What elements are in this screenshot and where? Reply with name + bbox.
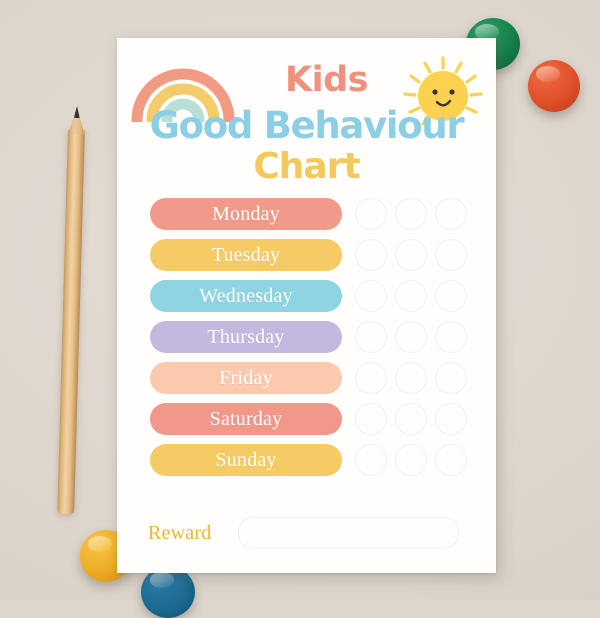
sticker-circle[interactable]	[395, 444, 427, 476]
sticker-circle[interactable]	[435, 198, 467, 230]
sticker-circle[interactable]	[435, 239, 467, 271]
day-pill-monday[interactable]: Monday	[150, 198, 342, 230]
blue-magnet[interactable]	[141, 566, 195, 618]
chart-rows: Monday Tuesday Wednesday	[117, 198, 496, 485]
day-pill-saturday[interactable]: Saturday	[150, 403, 342, 435]
sticker-circle[interactable]	[435, 362, 467, 394]
card-header: Kids Good Behaviour Chart	[117, 38, 496, 188]
day-pill-sunday[interactable]: Sunday	[150, 444, 342, 476]
orange-magnet[interactable]	[528, 60, 580, 112]
checkbox-group-thursday	[355, 321, 467, 353]
checkbox-group-sunday	[355, 444, 467, 476]
table-row: Monday	[117, 198, 496, 230]
table-row: Friday	[117, 362, 496, 394]
title-chart: Chart	[117, 146, 496, 187]
table-row: Saturday	[117, 403, 496, 435]
sticker-circle[interactable]	[355, 280, 387, 312]
title-good-behaviour: Good Behaviour	[117, 104, 496, 147]
behaviour-chart-card: Kids Good Behaviour Chart Monday Tuesday	[117, 38, 496, 573]
day-pill-thursday[interactable]: Thursday	[150, 321, 342, 353]
sticker-circle[interactable]	[355, 444, 387, 476]
sticker-circle[interactable]	[435, 321, 467, 353]
day-pill-tuesday[interactable]: Tuesday	[150, 239, 342, 271]
table-row: Thursday	[117, 321, 496, 353]
sticker-circle[interactable]	[435, 444, 467, 476]
sticker-circle[interactable]	[435, 280, 467, 312]
sticker-circle[interactable]	[395, 198, 427, 230]
sticker-circle[interactable]	[355, 362, 387, 394]
checkbox-group-saturday	[355, 403, 467, 435]
sticker-circle[interactable]	[355, 239, 387, 271]
sticker-circle[interactable]	[355, 321, 387, 353]
sticker-circle[interactable]	[395, 280, 427, 312]
table-row: Tuesday	[117, 239, 496, 271]
checkbox-group-friday	[355, 362, 467, 394]
reward-label: Reward	[148, 522, 238, 545]
sticker-circle[interactable]	[395, 362, 427, 394]
day-pill-friday[interactable]: Friday	[150, 362, 342, 394]
day-pill-wednesday[interactable]: Wednesday	[150, 280, 342, 312]
pencil-lead	[74, 106, 80, 118]
checkbox-group-tuesday	[355, 239, 467, 271]
reward-input[interactable]	[238, 517, 459, 549]
sticker-circle[interactable]	[435, 403, 467, 435]
sticker-circle[interactable]	[395, 321, 427, 353]
table-row: Wednesday	[117, 280, 496, 312]
checkbox-group-wednesday	[355, 280, 467, 312]
reward-row: Reward	[117, 516, 496, 550]
scene: Kids Good Behaviour Chart Monday Tuesday	[0, 0, 600, 600]
title-kids: Kids	[137, 60, 516, 100]
sticker-circle[interactable]	[395, 403, 427, 435]
sticker-circle[interactable]	[355, 403, 387, 435]
sticker-circle[interactable]	[395, 239, 427, 271]
sticker-circle[interactable]	[355, 198, 387, 230]
table-row: Sunday	[117, 444, 496, 476]
checkbox-group-monday	[355, 198, 467, 230]
